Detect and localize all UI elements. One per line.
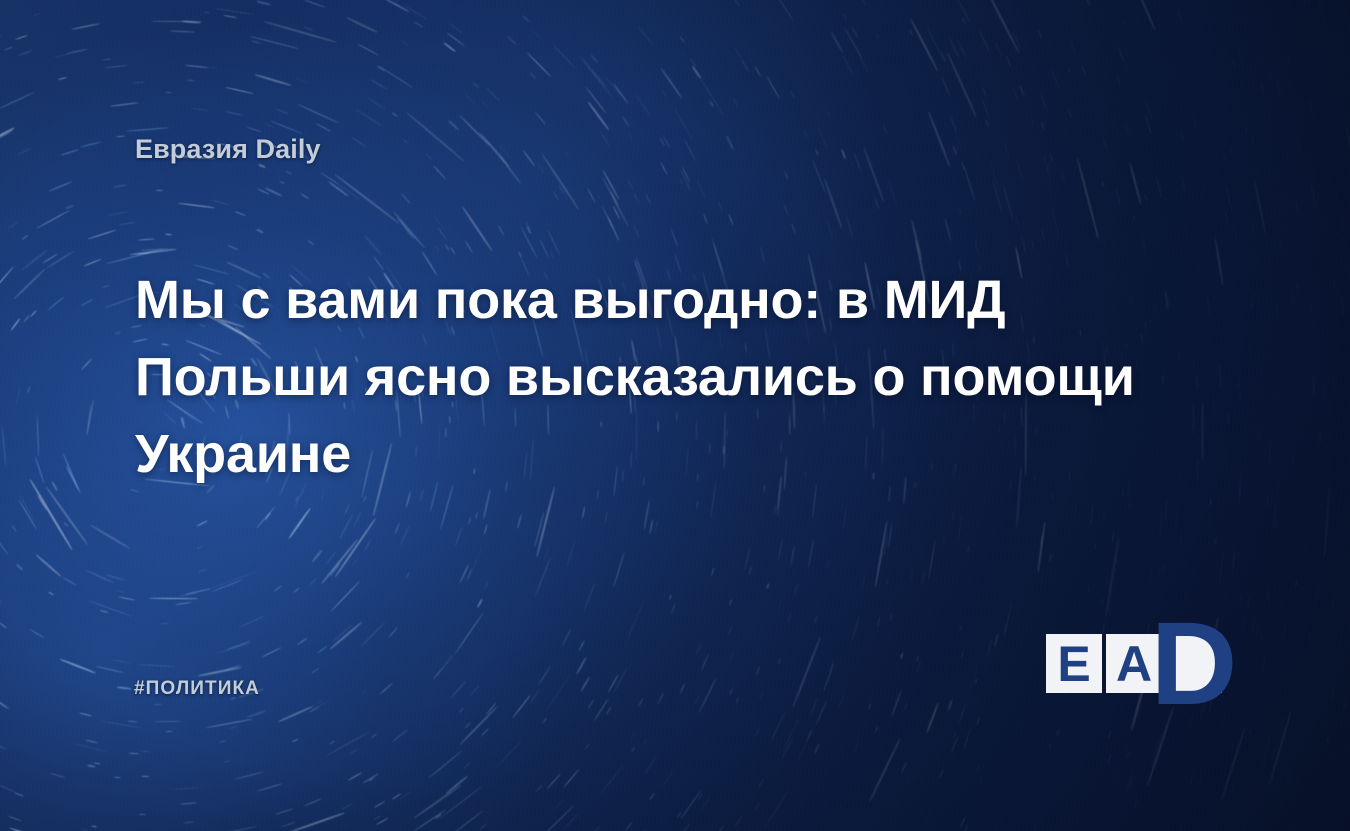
logo-letter-a-icon: A	[1116, 639, 1152, 689]
news-share-card: Евразия Daily Мы с вами пока выгодно: в …	[0, 0, 1350, 831]
brand-name: Евразия Daily	[135, 134, 321, 165]
logo-tile-e: E	[1046, 634, 1102, 693]
category-tag[interactable]: #ПОЛИТИКА	[134, 678, 260, 700]
logo-letter-d-icon: D	[1151, 605, 1238, 723]
eadaily-logo[interactable]: E A D	[1046, 634, 1222, 693]
logo-tile-d: D	[1166, 634, 1222, 693]
page-title: Мы с вами пока выгодно: в МИД Польши ясн…	[135, 262, 1145, 493]
card-content: Евразия Daily Мы с вами пока выгодно: в …	[0, 0, 1350, 831]
logo-letter-e-icon: E	[1057, 639, 1090, 689]
